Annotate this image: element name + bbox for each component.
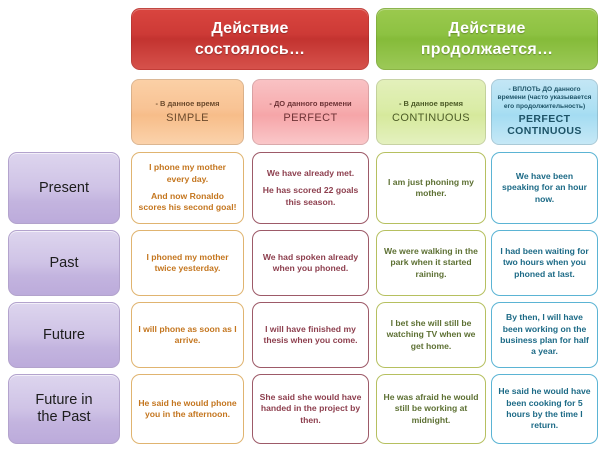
cell-present-continuous: I am just phoning my mother. — [376, 152, 486, 224]
cell-present-simple-text-2: And now Ronaldo scores his second goal! — [137, 191, 238, 214]
aspect-perfect-continuous-name-line1: PERFECT — [519, 113, 571, 126]
cell-past-perfect: We had spoken already when you phoned. — [252, 230, 369, 296]
aspect-continuous-name: CONTINUOUS — [392, 112, 470, 125]
tense-label-future-in-the-past: Future in the Past — [8, 374, 120, 444]
group-header-action-completed: Действие состоялось… — [131, 8, 369, 70]
cell-present-simple-text-1: I phone my mother every day. — [137, 162, 238, 185]
aspect-simple-name: SIMPLE — [166, 112, 209, 125]
cell-future-perfect-continuous: By then, I will have been working on the… — [491, 302, 598, 368]
aspect-continuous-description: - В данное время — [399, 99, 463, 109]
cell-past-continuous: We were walking in the park when it star… — [376, 230, 486, 296]
group-header-continuing-line1: Действие — [448, 18, 525, 39]
cell-present-perfect: We have already met. He has scored 22 go… — [252, 152, 369, 224]
aspect-simple-description: - В данное время — [155, 99, 219, 109]
tense-label-future: Future — [8, 302, 120, 368]
group-header-completed-line2: состоялось… — [195, 39, 305, 60]
aspect-perfect-name: PERFECT — [283, 112, 337, 125]
group-header-continuing-line2: продолжается… — [421, 39, 553, 60]
tense-label-past: Past — [8, 230, 120, 296]
group-header-action-continuing: Действие продолжается… — [376, 8, 598, 70]
aspect-header-continuous: - В данное время CONTINUOUS — [376, 79, 486, 145]
cell-present-perfect-text-2: He has scored 22 goals this season. — [258, 185, 363, 208]
cell-future-in-the-past-simple: He said he would phone you in the aftern… — [131, 374, 244, 444]
aspect-perfect-continuous-description: - ВПЛОТЬ ДО данного времени (часто указы… — [496, 86, 593, 111]
cell-past-perfect-continuous: I had been waiting for two hours when yo… — [491, 230, 598, 296]
cell-future-in-the-past-continuous: He was afraid he would still be working … — [376, 374, 486, 444]
cell-future-in-the-past-perfect-continuous: He said he would have been cooking for 5… — [491, 374, 598, 444]
aspect-header-simple: - В данное время SIMPLE — [131, 79, 244, 145]
tense-label-present: Present — [8, 152, 120, 224]
cell-present-perfect-continuous: We have been speaking for an hour now. — [491, 152, 598, 224]
aspect-header-perfect: - ДО данного времени PERFECT — [252, 79, 369, 145]
cell-future-continuous: I bet she will still be watching TV when… — [376, 302, 486, 368]
tense-table: Действие состоялось… Действие продолжает… — [0, 0, 604, 453]
group-header-completed-line1: Действие — [211, 18, 288, 39]
cell-future-simple: I will phone as soon as I arrive. — [131, 302, 244, 368]
cell-past-simple: I phoned my mother twice yesterday. — [131, 230, 244, 296]
aspect-perfect-continuous-name-line2: CONTINUOUS — [507, 125, 582, 138]
cell-present-simple: I phone my mother every day. And now Ron… — [131, 152, 244, 224]
aspect-perfect-description: - ДО данного времени — [269, 99, 351, 109]
cell-future-in-the-past-perfect: She said she would have handed in the pr… — [252, 374, 369, 444]
aspect-header-perfect-continuous: - ВПЛОТЬ ДО данного времени (часто указы… — [491, 79, 598, 145]
cell-future-perfect: I will have finished my thesis when you … — [252, 302, 369, 368]
cell-present-perfect-text-1: We have already met. — [267, 168, 354, 179]
